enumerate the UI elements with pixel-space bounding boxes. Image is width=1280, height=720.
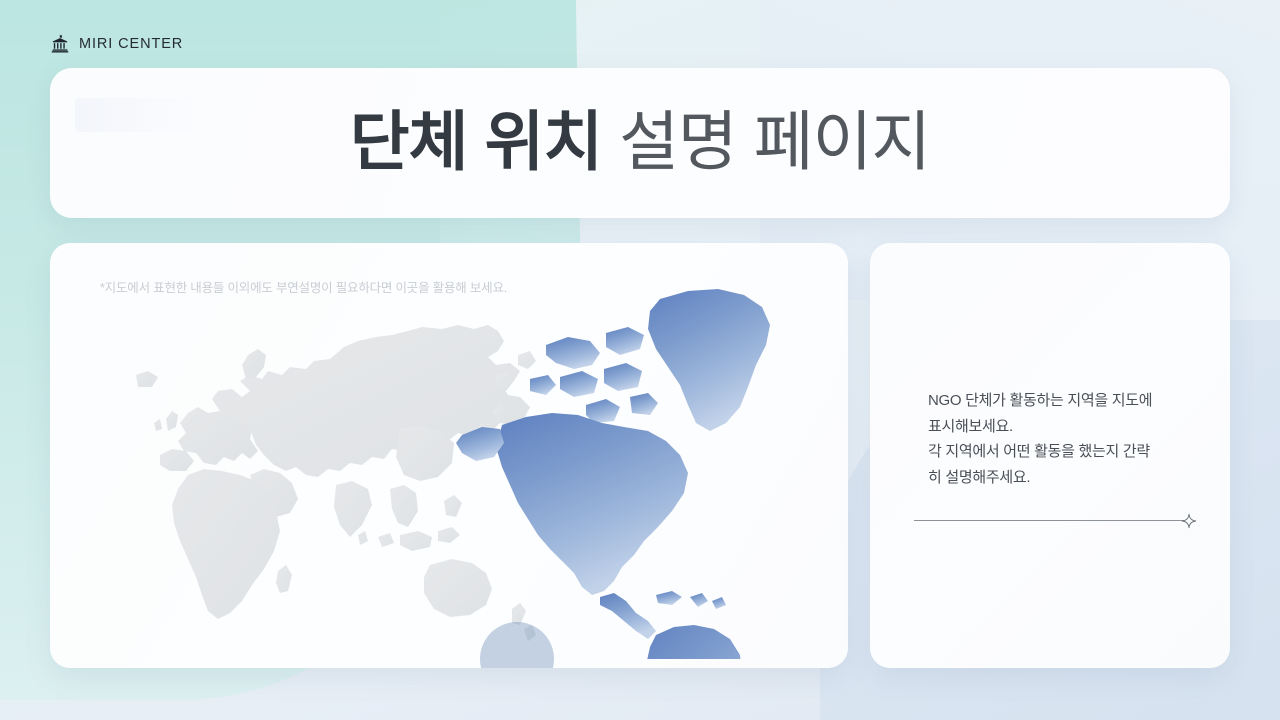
note-card: NGO 단체가 활동하는 지역을 지도에 표시해보세요. 각 지역에서 어떤 활… (870, 243, 1230, 668)
sparkle-icon (1180, 512, 1198, 530)
bank-building-icon (50, 33, 70, 54)
title-watermark (75, 98, 195, 132)
title-card: 단체 위치 설명 페이지 (50, 68, 1230, 218)
map-card: *지도에서 표현한 내용들 이외에도 부연설명이 필요하다면 이곳을 활용해 보… (50, 243, 848, 668)
note-divider-line (914, 520, 1184, 521)
note-line-4: 히 설명해주세요. (928, 465, 1190, 491)
page-title-light: 설명 페이지 (619, 105, 930, 178)
map-landmass-western-hemisphere (456, 289, 770, 659)
note-line-1: NGO 단체가 활동하는 지역을 지도에 (928, 388, 1190, 414)
brand-name: MIRI CENTER (79, 36, 183, 52)
page-title: 단체 위치 설명 페이지 (350, 109, 930, 174)
world-map (50, 271, 848, 668)
note-text-block: NGO 단체가 활동하는 지역을 지도에 표시해보세요. 각 지역에서 어떤 활… (928, 388, 1190, 490)
brand-logo: MIRI CENTER (50, 33, 183, 54)
world-map-svg (100, 279, 800, 659)
page-title-strong: 단체 위치 (350, 105, 602, 178)
note-line-2: 표시해보세요. (928, 414, 1190, 440)
map-landmass-eastern-hemisphere (136, 325, 536, 641)
slide-root: MIRI CENTER 단체 위치 설명 페이지 *지도에서 표현한 내용들 이… (0, 0, 1280, 720)
note-line-3: 각 지역에서 어떤 활동을 했는지 간략 (928, 439, 1190, 465)
